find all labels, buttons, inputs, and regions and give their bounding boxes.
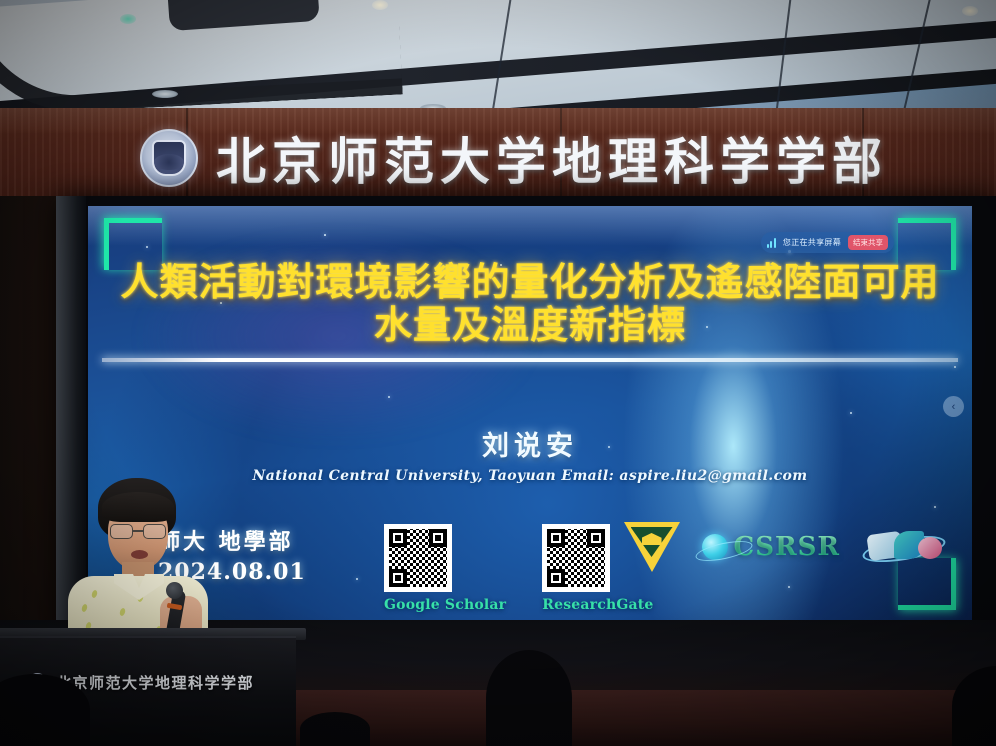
screen-left-wall bbox=[0, 196, 58, 641]
wall-banner-text: 北京师范大学地理科学学部 bbox=[216, 122, 888, 194]
partner-logo bbox=[862, 529, 946, 565]
slide-title: 人類活動對環境影響的量化分析及遙感陸面可用水量及溫度新指標 bbox=[88, 260, 972, 347]
slide-affiliation: National Central University, Taoyuan Ema… bbox=[88, 468, 972, 484]
slide-divider bbox=[102, 358, 958, 362]
microphone-head bbox=[166, 582, 183, 599]
chevron-left-icon[interactable]: ‹ bbox=[943, 396, 964, 417]
ncu-triangle-logo bbox=[624, 522, 680, 572]
lecture-hall-photo: 北京师范大学地理科学学部 bbox=[0, 0, 996, 746]
ceiling bbox=[0, 0, 996, 118]
eyeglasses-icon bbox=[110, 524, 166, 539]
ceiling-downlight bbox=[152, 90, 178, 98]
ceiling-spotlight bbox=[120, 14, 136, 24]
presenter-fringe bbox=[102, 492, 174, 522]
screen-share-notice[interactable]: 您正在共享屏幕 结束共享 bbox=[761, 232, 894, 253]
slide-logo-group: CSRSR bbox=[624, 522, 946, 572]
globe-icon bbox=[702, 534, 728, 560]
end-share-button[interactable]: 结束共享 bbox=[848, 235, 888, 250]
qr-code-group: Google Scholar ResearchGate bbox=[384, 524, 654, 613]
qr-label: ResearchGate bbox=[542, 597, 653, 613]
ceiling-spotlight bbox=[372, 0, 388, 10]
wall-banner: 北京师范大学地理科学学部 bbox=[140, 118, 940, 198]
podium-label-text: 北京师范大学地理科学学部 bbox=[56, 672, 254, 693]
slide-speaker-name: 刘说安 bbox=[88, 424, 972, 463]
qr-item-google-scholar[interactable]: Google Scholar bbox=[384, 524, 506, 613]
qr-label: Google Scholar bbox=[384, 597, 506, 613]
qr-code-icon[interactable] bbox=[542, 524, 610, 592]
signal-bars-icon bbox=[767, 238, 776, 248]
csrsr-logo: CSRSR bbox=[702, 532, 840, 562]
audience-head bbox=[300, 712, 370, 746]
bnu-seal-icon bbox=[140, 129, 198, 187]
presentation-slide[interactable]: 您正在共享屏幕 结束共享 ‹ 人類活動對環境影響的量化分析及遙感陸面可用水量及溫… bbox=[88, 206, 972, 620]
qr-code-icon[interactable] bbox=[384, 524, 452, 592]
presenter-mouth bbox=[131, 550, 148, 559]
audience-head bbox=[486, 650, 572, 746]
ceiling-spotlight bbox=[962, 6, 978, 16]
share-notice-text: 您正在共享屏幕 bbox=[783, 237, 841, 248]
